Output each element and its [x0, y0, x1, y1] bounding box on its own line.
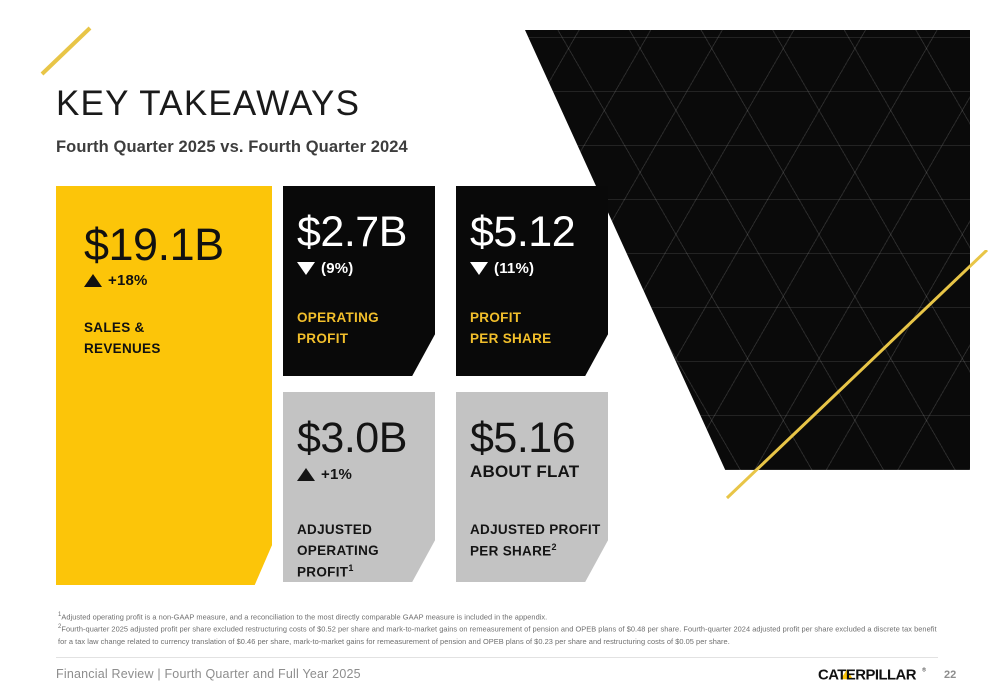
footnote-2-text: Fourth-quarter 2025 adjusted profit per …: [58, 625, 937, 646]
svg-text:®: ®: [922, 666, 926, 673]
metric-label: ADJUSTED PROFIT PER SHARE2: [470, 520, 601, 562]
metric-label-line1: OPERATING: [297, 310, 379, 325]
metric-delta: (11%): [470, 260, 534, 277]
metric-card-adjusted-profit-per-share: $5.16 ABOUT FLAT ADJUSTED PROFIT PER SHA…: [456, 392, 608, 582]
metric-value: $5.12: [470, 211, 575, 254]
metric-value: $19.1B: [84, 222, 224, 267]
metric-label-line1: SALES &: [84, 320, 145, 335]
page-number: 22: [944, 669, 956, 681]
metric-value: $2.7B: [297, 211, 407, 254]
footnote-1: 1Adjusted operating profit is a non-GAAP…: [58, 611, 938, 623]
footer-text: Financial Review | Fourth Quarter and Fu…: [56, 667, 361, 681]
page-subtitle: Fourth Quarter 2025 vs. Fourth Quarter 2…: [56, 138, 408, 157]
metric-card-sales-and-revenues: $19.1B +18% SALES & REVENUES: [56, 186, 272, 585]
metric-label-line2: PER SHARE: [470, 331, 551, 346]
metric-label-line2: REVENUES: [84, 341, 161, 356]
metric-label-line1: ADJUSTED PROFIT: [470, 522, 601, 537]
metric-label: PROFIT PER SHARE: [470, 308, 551, 350]
footnote-marker: 2: [551, 542, 556, 552]
metric-card-operating-profit: $2.7B (9%) OPERATING PROFIT: [283, 186, 435, 376]
metric-value: $5.16: [470, 417, 575, 460]
metric-label-line2: PROFIT: [297, 331, 348, 346]
metric-delta-text: (9%): [321, 260, 353, 277]
metric-label: OPERATING PROFIT: [297, 308, 379, 350]
metric-delta-text: +1%: [321, 466, 352, 483]
metric-delta-text: (11%): [494, 260, 534, 277]
arrow-down-icon: [297, 262, 315, 275]
arrow-up-icon: [84, 274, 102, 287]
metric-delta: ABOUT FLAT: [470, 462, 579, 482]
footnotes: 1Adjusted operating profit is a non-GAAP…: [58, 611, 938, 648]
footnote-1-text: Adjusted operating profit is a non-GAAP …: [61, 612, 547, 621]
metric-card-adjusted-operating-profit: $3.0B +1% ADJUSTED OPERATING PROFIT1: [283, 392, 435, 582]
metric-label-line1: ADJUSTED: [297, 522, 372, 537]
footnote-2: 2Fourth-quarter 2025 adjusted profit per…: [58, 623, 938, 647]
metric-label-line2: PER SHARE: [470, 543, 551, 558]
metric-delta: +1%: [297, 466, 352, 483]
arrow-down-icon: [470, 262, 488, 275]
metric-label-line1: PROFIT: [470, 310, 521, 325]
metric-card-profit-per-share: $5.12 (11%) PROFIT PER SHARE: [456, 186, 608, 376]
decorative-corner-slash-icon: [38, 24, 98, 78]
metric-label: SALES & REVENUES: [84, 318, 161, 360]
footnote-marker: 1: [348, 563, 353, 573]
caterpillar-logo: CATERPILLAR ®: [818, 664, 930, 684]
page-title: KEY TAKEAWAYS: [56, 86, 408, 121]
metric-value: $3.0B: [297, 417, 407, 460]
metric-label: ADJUSTED OPERATING PROFIT1: [297, 520, 435, 583]
slide-header: KEY TAKEAWAYS Fourth Quarter 2025 vs. Fo…: [56, 86, 408, 157]
arrow-up-icon: [297, 468, 315, 481]
metric-delta-text: ABOUT FLAT: [470, 462, 579, 482]
metric-delta-text: +18%: [108, 272, 148, 289]
metric-label-line2: OPERATING PROFIT: [297, 543, 379, 579]
svg-text:CATERPILLAR: CATERPILLAR: [818, 667, 917, 683]
metric-delta: +18%: [84, 272, 148, 289]
footer-divider: [56, 657, 938, 658]
metric-delta: (9%): [297, 260, 353, 277]
